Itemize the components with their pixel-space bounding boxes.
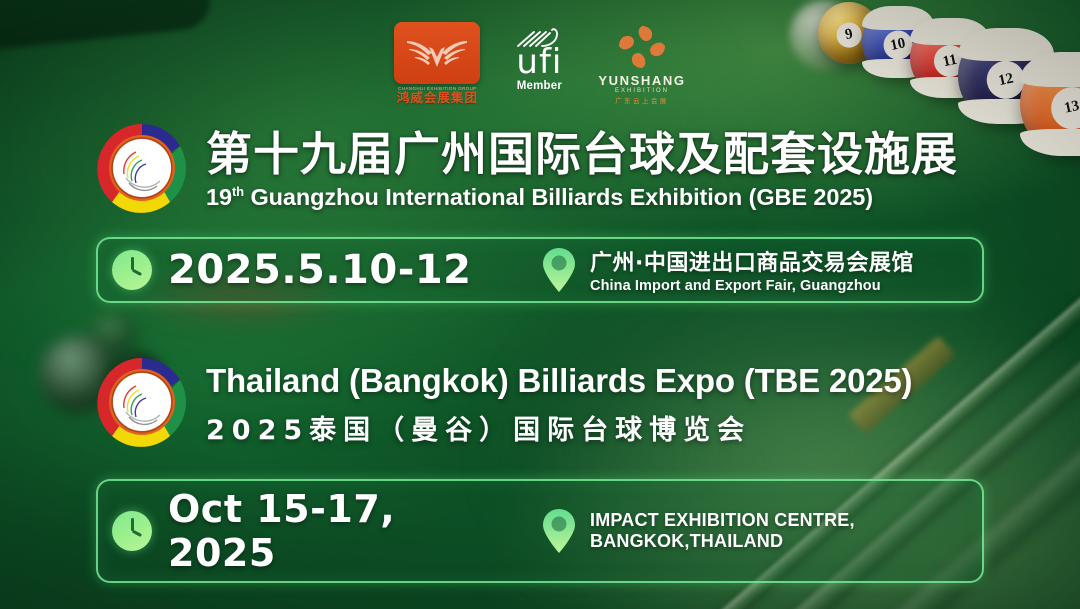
yunshang-wordmark: YUNSHANG bbox=[598, 73, 685, 88]
tbe-date-text: Oct 15-17, 2025 bbox=[168, 487, 514, 575]
clock-icon bbox=[112, 250, 152, 290]
gbe-title-english-rest: Guangzhou International Billiards Exhibi… bbox=[244, 184, 873, 210]
location-pin-glyph bbox=[542, 508, 576, 554]
w-wing-icon bbox=[405, 33, 469, 73]
yunshang-subtitle: EXHIBITION bbox=[615, 88, 669, 94]
ufi-member-caption: Member bbox=[517, 80, 562, 92]
billiards-circular-emblem-icon bbox=[92, 118, 192, 218]
location-pin-glyph bbox=[542, 247, 576, 293]
gbe-venue-english: China Import and Export Fair, Guangzhou bbox=[590, 278, 881, 294]
tbe-venue-cell: IMPACT EXHIBITION CENTRE, BANGKOK,THAILA… bbox=[528, 481, 982, 581]
tbe-title-english: Thailand (Bangkok) Billiards Expo (TBE 2… bbox=[206, 362, 1080, 400]
logo-ufi-member: ufi Member bbox=[516, 22, 562, 92]
hongwei-logo-mark bbox=[394, 22, 480, 84]
tbe-title-chinese: 2025泰国（曼谷）国际台球博览会 bbox=[206, 408, 1080, 447]
gbe-edition-suffix: th bbox=[232, 185, 244, 200]
location-pin-icon bbox=[542, 508, 576, 554]
gbe-venue-text: 广州·中国进出口商品交易会展馆 China Import and Export … bbox=[590, 245, 914, 295]
clock-icon bbox=[112, 511, 152, 551]
gbe-edition-number: 19 bbox=[206, 184, 232, 210]
logo-yunshang-exhibition: YUNSHANG EXHIBITION 广东云上会展 bbox=[598, 22, 685, 105]
event-block-gbe: 第十九届广州国际台球及配套设施展 19th Guangzhou Internat… bbox=[0, 118, 1080, 303]
ufi-wordmark: ufi bbox=[516, 48, 562, 77]
pinwheel-icon bbox=[617, 24, 667, 70]
poster-canvas: 9 10 11 12 13 bbox=[0, 0, 1080, 609]
gbe-date-text: 2025.5.10-12 bbox=[168, 247, 471, 293]
tbe-venue-text: IMPACT EXHIBITION CENTRE, BANGKOK,THAILA… bbox=[590, 510, 855, 552]
tbe-emblem bbox=[92, 352, 192, 457]
event-block-tbe: Thailand (Bangkok) Billiards Expo (TBE 2… bbox=[0, 352, 1080, 583]
gbe-venue-cell: 广州·中国进出口商品交易会展馆 China Import and Export … bbox=[528, 239, 982, 301]
tbe-info-bar: Oct 15-17, 2025 bbox=[96, 479, 984, 583]
billiards-circular-emblem-icon bbox=[92, 352, 192, 452]
location-pin-icon bbox=[542, 247, 576, 293]
gbe-date-cell: 2025.5.10-12 bbox=[98, 239, 528, 301]
gbe-venue-chinese: 广州·中国进出口商品交易会展馆 bbox=[590, 251, 914, 276]
tbe-venue-line1: IMPACT EXHIBITION CENTRE, bbox=[590, 510, 855, 530]
partner-logo-row: CHANGHUI EXHIBITION GROUP 鸿威会展集团 ufi Mem… bbox=[0, 22, 1080, 106]
tbe-date-cell: Oct 15-17, 2025 bbox=[98, 481, 528, 581]
tbe-venue-line2: BANGKOK,THAILAND bbox=[590, 531, 783, 551]
logo-hongwei-exhibition-group: CHANGHUI EXHIBITION GROUP 鸿威会展集团 bbox=[394, 22, 480, 106]
gbe-emblem bbox=[92, 118, 192, 223]
gbe-info-bar: 2025.5.10-12 bbox=[96, 237, 984, 303]
gbe-title-chinese: 第十九届广州国际台球及配套设施展 bbox=[206, 130, 1080, 180]
yunshang-chinese-name: 广东云上会展 bbox=[615, 95, 668, 105]
hongwei-chinese-name: 鸿威会展集团 bbox=[397, 92, 478, 106]
gbe-title-english: 19th Guangzhou International Billiards E… bbox=[206, 184, 1080, 211]
